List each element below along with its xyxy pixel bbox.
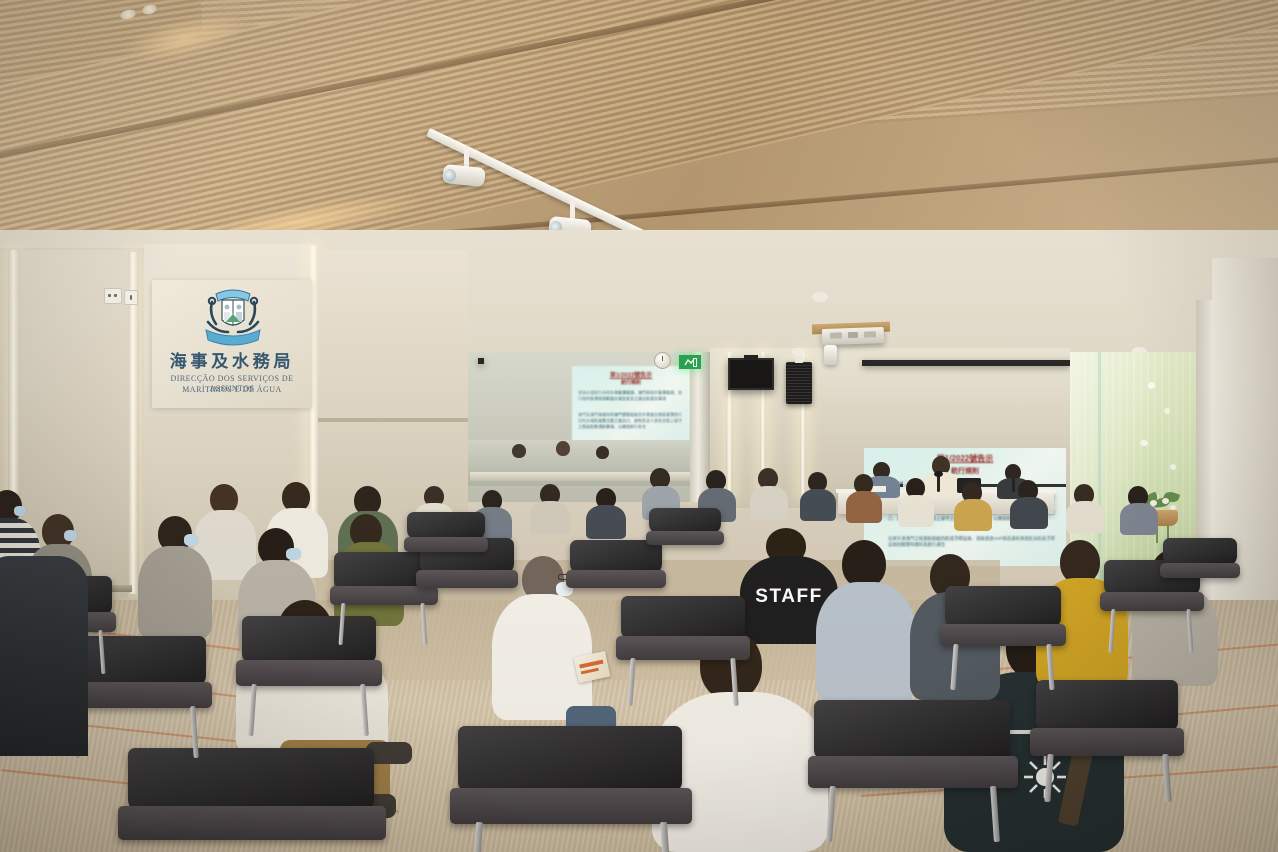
chair xyxy=(236,616,382,698)
plaque-portuguese-line-2: MARÍTIMOS E DE ÁGUA xyxy=(152,385,312,395)
side-projection-screen-reflection: 第1/2022號告示 航行規則 港澳水域航行內的外港客運碼頭、澳門與氹仔客運碼頭… xyxy=(572,366,690,448)
chair xyxy=(646,508,724,554)
face-mask xyxy=(184,534,198,546)
orange-printed-booklet xyxy=(574,651,611,683)
ceiling-projector xyxy=(822,327,885,345)
attendee-foreground-left xyxy=(0,556,90,756)
bureau-crest-icon xyxy=(196,284,270,350)
face-mask xyxy=(14,506,26,516)
mirror-reflected-person xyxy=(512,444,526,458)
attendee-body xyxy=(0,556,88,756)
attendee-body xyxy=(954,499,992,531)
attendee-body xyxy=(800,489,836,521)
attendee-body xyxy=(530,501,570,535)
wall-clock xyxy=(654,352,671,369)
plaque-chinese-title: 海事及水務局 xyxy=(152,352,312,371)
attendee-body xyxy=(1010,497,1048,529)
attendee-body xyxy=(816,582,916,702)
main-screen-top-bar xyxy=(862,360,1070,366)
attendee-head xyxy=(842,540,886,588)
wall-socket xyxy=(104,288,122,304)
chair xyxy=(118,748,386,852)
attendee-body xyxy=(138,546,212,638)
chair xyxy=(940,586,1066,660)
beam-spotlight xyxy=(824,345,837,365)
wall-monitor xyxy=(728,358,774,390)
side-screen-frame xyxy=(478,358,484,364)
attendee-body xyxy=(846,491,882,523)
conference-room-photo: 海事及水務局 DIRECÇÃO DOS SERVIÇOS DE ASSUNTOS… xyxy=(0,0,1278,852)
exit-sign xyxy=(679,355,701,369)
ceiling-sensor xyxy=(812,292,828,302)
mirror-reflected-person xyxy=(556,441,570,456)
attendee-body xyxy=(1066,501,1104,533)
wall-horizontal-reveal xyxy=(318,418,468,422)
audience-back-row xyxy=(640,458,1200,528)
wall-switch[interactable] xyxy=(124,290,138,305)
speaker-bracket-knob xyxy=(792,348,805,356)
face-mask xyxy=(286,548,301,560)
face-mask xyxy=(64,530,77,541)
chair xyxy=(1030,680,1184,780)
chair xyxy=(808,700,1018,820)
chair xyxy=(450,726,692,852)
attendee-body xyxy=(586,505,626,539)
mirror-reflected-person xyxy=(596,446,609,459)
attendee-body xyxy=(1120,503,1158,535)
chair xyxy=(1160,538,1240,586)
chair xyxy=(616,596,750,672)
attendee-body xyxy=(750,486,788,520)
attendee-body xyxy=(898,495,934,527)
wall-speaker-left xyxy=(786,362,812,404)
chair xyxy=(404,512,488,560)
wall-plaque: 海事及水務局 DIRECÇÃO DOS SERVIÇOS DE ASSUNTOS… xyxy=(152,280,312,408)
